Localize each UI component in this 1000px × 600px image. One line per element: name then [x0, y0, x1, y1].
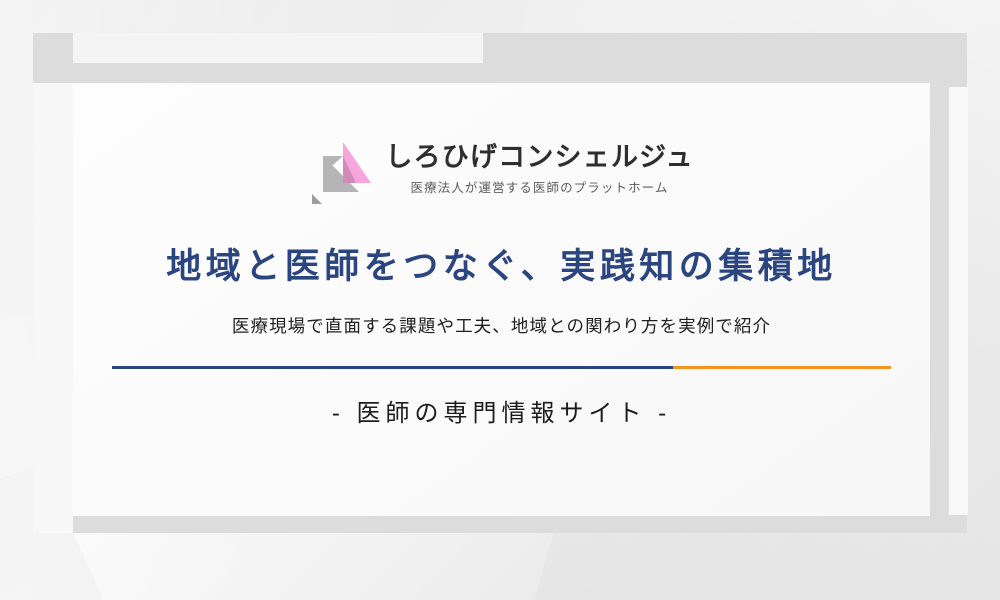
divider-segment-orange [673, 366, 891, 369]
frame-accent-top [73, 33, 483, 63]
hero-subtitle: 医療現場で直面する課題や工夫、地域との関わり方を実例で紹介 [232, 313, 771, 338]
logo-text-block: しろひげコンシェルジュ 医療法人が運営する医師のプラットホーム [385, 142, 693, 196]
logo-lockup: しろひげコンシェルジュ 医療法人が運営する医師のプラットホーム [309, 134, 693, 204]
hero-banner: しろひげコンシェルジュ 医療法人が運営する医師のプラットホーム 地域と医師をつな… [0, 0, 1000, 600]
content-card-inner: しろひげコンシェルジュ 医療法人が運営する医師のプラットホーム 地域と医師をつな… [73, 83, 930, 516]
hero-tagline: - 医師の専門情報サイト - [332, 393, 671, 428]
two-tone-divider [112, 366, 892, 369]
divider-segment-navy [112, 366, 674, 369]
logo-subtitle: 医療法人が運営する医師のプラットホーム [410, 177, 668, 196]
logo-title: しろひげコンシェルジュ [385, 142, 693, 172]
frame-accent-left [33, 83, 73, 533]
frame-accent-right [949, 87, 968, 515]
hero-headline: 地域と医師をつなぐ、実践知の集積地 [166, 246, 836, 288]
shirohige-triangle-logo-icon [309, 134, 371, 204]
content-card: しろひげコンシェルジュ 医療法人が運営する医師のプラットホーム 地域と医師をつな… [73, 83, 930, 516]
